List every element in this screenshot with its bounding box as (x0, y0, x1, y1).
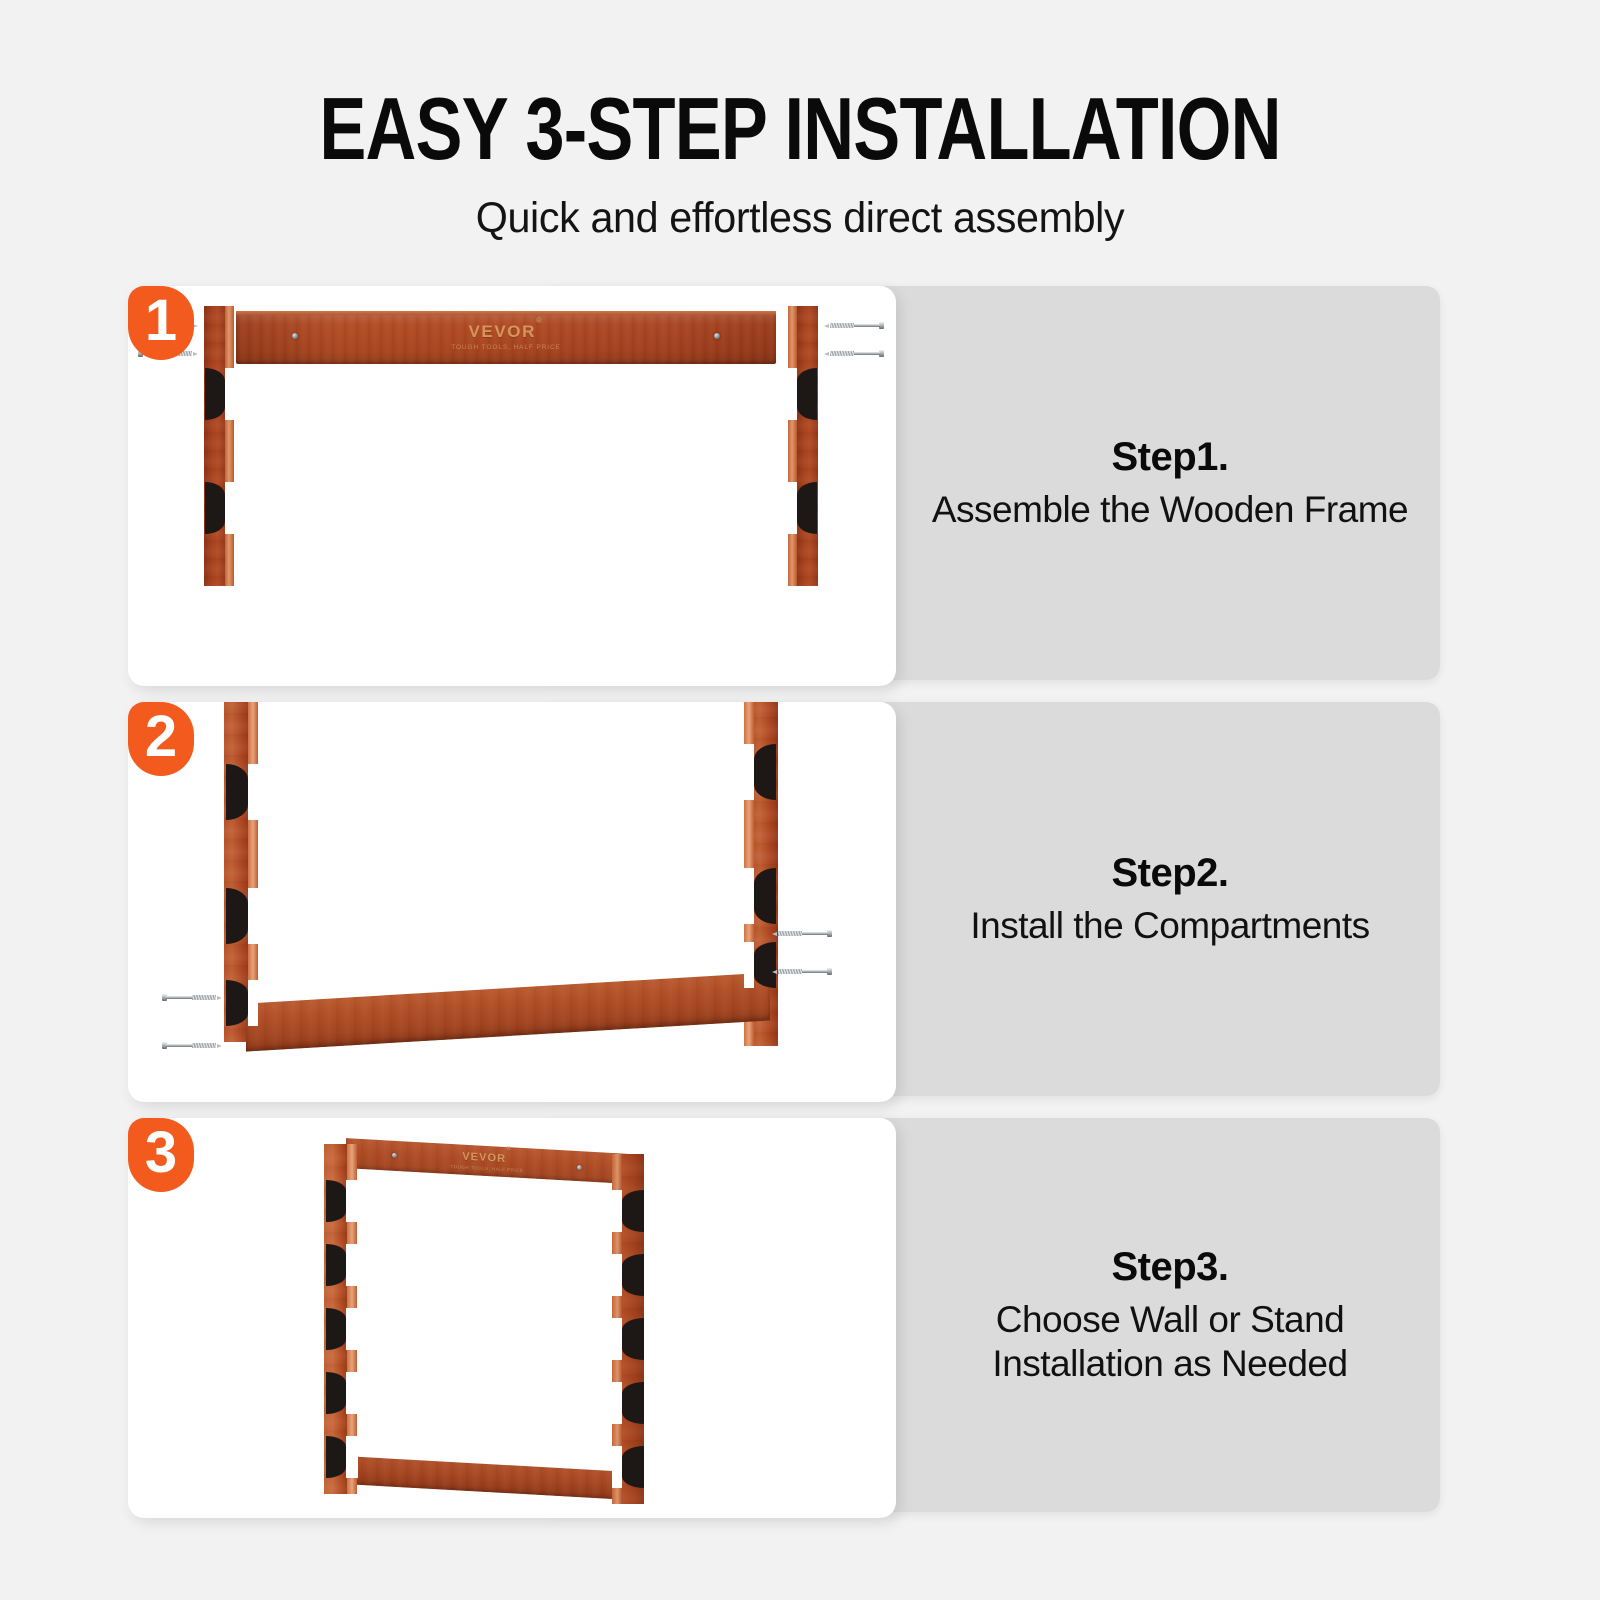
step-3-heading: Step3. (1111, 1245, 1228, 1290)
foam-notch (326, 1244, 346, 1286)
foam-notch (797, 368, 817, 420)
infographic-page: EASY 3-STEP INSTALLATION Quick and effor… (0, 0, 1600, 1600)
step-row-1: Step1. Assemble the Wooden Frame 1 VEVOR… (0, 286, 1600, 686)
step-3-description-line-1: Choose Wall or Stand (996, 1298, 1345, 1341)
foam-notch (622, 1318, 644, 1360)
foam-notch (622, 1254, 644, 1296)
trademark-symbol: ® (536, 316, 544, 325)
foam-notch (754, 868, 776, 924)
mounting-screw (162, 994, 218, 1001)
left-vertical-post (324, 1144, 358, 1494)
mounting-screw (162, 1042, 218, 1049)
wooden-cross-beam: VEVOR® TOUGH TOOLS, HALF PRICE (236, 311, 776, 364)
foam-notch (326, 1308, 346, 1350)
foam-notch (326, 1372, 346, 1414)
step-3-image-card: 3 VEVOR® TOUGH TOOLS, HALF PRICE (128, 1118, 896, 1518)
step-2-illustration (128, 702, 896, 1102)
foam-notch (797, 482, 817, 534)
left-vertical-post (224, 702, 258, 1042)
step-row-2: Step2. Install the Compartments 2 (0, 702, 1600, 1102)
step-row-3: Step3. Choose Wall or Stand Installation… (0, 1118, 1600, 1518)
foam-notch (754, 942, 776, 988)
step-1-heading: Step1. (1111, 435, 1228, 480)
foam-notch (622, 1446, 644, 1488)
beam-screw-hole-right (714, 333, 720, 339)
step-2-description: Install the Compartments (970, 904, 1369, 947)
foam-notch (205, 482, 225, 534)
assembled-gun-rack-frame: VEVOR® TOUGH TOOLS, HALF PRICE (324, 1140, 654, 1498)
header: EASY 3-STEP INSTALLATION Quick and effor… (0, 0, 1600, 243)
page-title: EASY 3-STEP INSTALLATION (160, 86, 1440, 172)
step-1-illustration: VEVOR® TOUGH TOOLS, HALF PRICE (128, 286, 896, 686)
mounting-screw (776, 930, 832, 937)
beam-screw-hole-left (292, 333, 298, 339)
foam-notch (205, 368, 225, 420)
step-3-illustration: VEVOR® TOUGH TOOLS, HALF PRICE (128, 1118, 896, 1518)
beam-top-edge (236, 311, 776, 315)
wooden-bottom-beam (346, 1456, 628, 1500)
foam-notch (226, 980, 248, 1026)
step-2-heading: Step2. (1111, 851, 1228, 896)
foam-notch (622, 1190, 644, 1232)
step-1-badge: 1 (128, 286, 194, 360)
vevor-wordmark: VEVOR® (236, 322, 776, 342)
beam-screw-hole-left (392, 1153, 397, 1158)
step-3-description-line-2: Installation as Needed (992, 1342, 1347, 1385)
beam-screw-hole-right (577, 1165, 582, 1170)
mounting-screw (828, 350, 884, 357)
foam-notch (226, 888, 248, 944)
step-1-image-card: 1 VEVOR® TOUGH TOOLS, HALF PRICE (128, 286, 896, 686)
mounting-screw (776, 968, 832, 975)
right-vertical-post (612, 1154, 646, 1504)
foam-notch (754, 744, 776, 800)
trademark-symbol: ® (506, 1146, 512, 1152)
mounting-screw (828, 322, 884, 329)
step-2-badge: 2 (128, 702, 194, 776)
foam-notch (326, 1436, 346, 1478)
foam-notch (226, 764, 248, 820)
right-vertical-post (788, 306, 818, 586)
step-1-description: Assemble the Wooden Frame (932, 488, 1408, 531)
vevor-logo: VEVOR® TOUGH TOOLS, HALF PRICE (236, 322, 776, 351)
page-subtitle: Quick and effortless direct assembly (32, 194, 1568, 243)
foam-notch (326, 1180, 346, 1222)
wooden-cross-beam (246, 972, 770, 1051)
vevor-tagline: TOUGH TOOLS, HALF PRICE (236, 344, 776, 351)
step-3-badge: 3 (128, 1118, 194, 1192)
step-2-image-card: 2 (128, 702, 896, 1102)
foam-notch (622, 1382, 644, 1424)
left-vertical-post (204, 306, 234, 586)
wooden-top-beam: VEVOR® TOUGH TOOLS, HALF PRICE (346, 1138, 628, 1184)
